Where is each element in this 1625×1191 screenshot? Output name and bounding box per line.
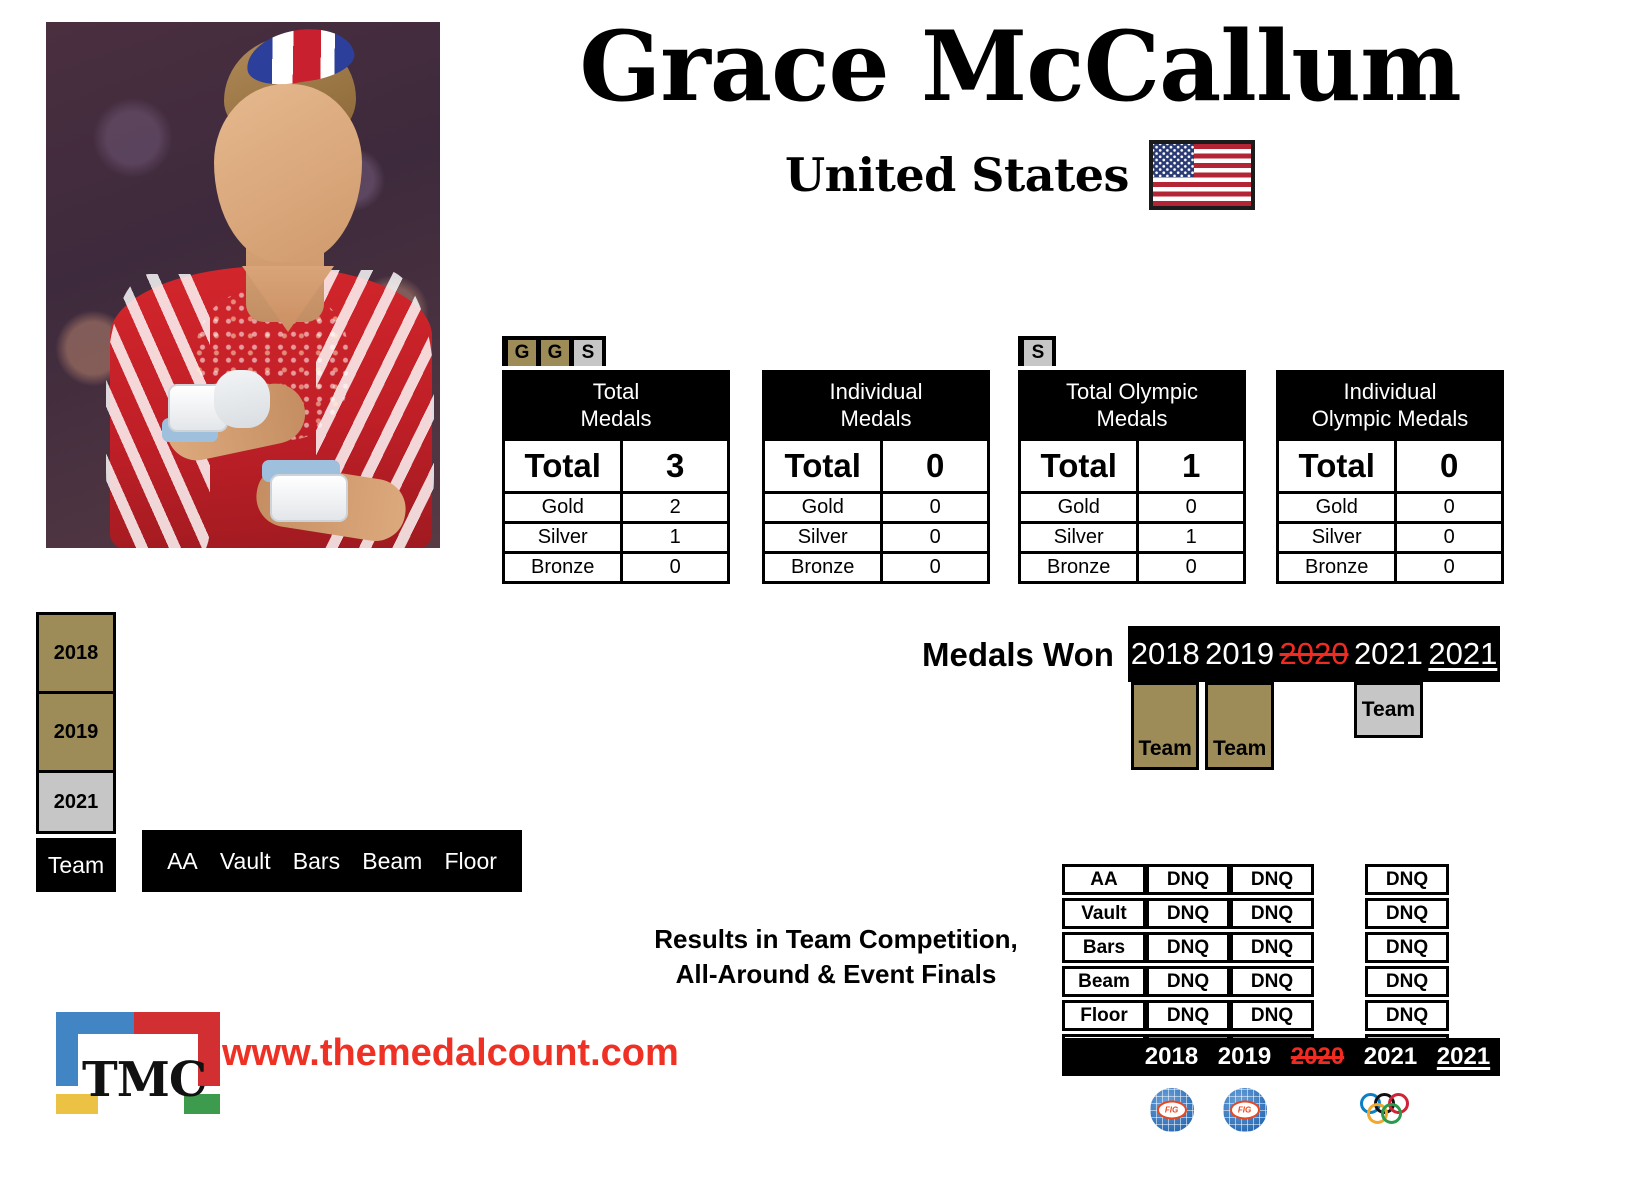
medal-chip-team-gold-2019: Team [1205,682,1273,770]
medal-chip-team-silver-2021: Team [1354,682,1422,738]
medal-row-silver: Silver 1 [1018,524,1246,554]
medal-chip-team-gold-2018: Team [1131,682,1199,770]
icon-slot-2021 [1354,1093,1427,1127]
cell-floor-2020-empty [1314,1000,1365,1031]
athlete-photo [46,22,440,548]
results-year-2021: 2021 [1354,1043,1427,1071]
results-caption-line2: All-Around & Event Finals [636,957,1036,992]
medal-card-title-line2: Medals [1018,405,1246,432]
gold-value: 0 [1397,494,1501,521]
legend-event-vault: Vault [220,848,271,875]
face [214,84,362,262]
silver-value: 0 [883,524,987,551]
total-value: 3 [623,441,727,491]
country-row: United States [460,140,1580,210]
cell-floor-2021: DNQ [1368,1003,1446,1028]
gold-value: 2 [623,494,727,521]
icon-slot-2018: FIG [1135,1088,1208,1132]
medal-row-gold: Gold 0 [762,494,990,524]
legend-event-beam: Beam [362,848,422,875]
cell-vault-2018: DNQ [1149,901,1227,926]
country-name: United States [785,148,1129,202]
cell-aa-2021b-empty [1449,864,1500,895]
medal-card-total-row: Total 3 [502,441,730,494]
cell-beam-2021: DNQ [1368,969,1446,994]
cell-vault-2021b-empty [1449,898,1500,929]
bronze-value: 0 [623,554,727,581]
cell-floor-2018: DNQ [1149,1003,1227,1028]
medal-row-bronze: Bronze 0 [1276,554,1504,584]
table-row: Bars DNQ DNQ DNQ [1062,932,1500,963]
medals-won-col-2019: Team [1202,682,1276,772]
silver-value: 1 [1139,524,1243,551]
results-year-footer: 2018 2019 2020 2021 2021 [1062,1038,1500,1076]
bronze-label: Bronze [1279,554,1394,581]
cell-aa-2021: DNQ [1368,867,1446,892]
tmc-logo: TMC [34,1008,184,1116]
medals-won-col-2021: Team [1351,682,1425,772]
medal-card-individual-olympic-medals: Individual Olympic Medals Total 0 Gold 0… [1276,336,1504,584]
total-label: Total [505,441,620,491]
medal-card-total-medals: G G S Total Medals Total 3 Gold 2 Silver… [502,336,730,584]
results-event-icons: FIG FIG [1062,1082,1500,1138]
cell-bars-2021: DNQ [1368,935,1446,960]
medal-badge-gold-1: G [508,340,536,366]
medal-row-gold: Gold 0 [1276,494,1504,524]
medal-card-total-row: Total 0 [1276,441,1504,494]
cell-aa-2020-empty [1314,864,1365,895]
olympic-rings-icon [1360,1093,1422,1127]
cell-beam-2019: DNQ [1233,969,1311,994]
medal-badges-total: G G S [502,336,606,366]
olympic-ring-green [1381,1103,1402,1124]
bronze-label: Bronze [1021,554,1136,581]
medals-won-col-2018: Team [1128,682,1202,772]
cell-floor-2019: DNQ [1233,1003,1311,1028]
medal-badge-silver-1: S [1024,340,1052,366]
gold-value: 0 [883,494,987,521]
cell-beam-2021b-empty [1449,966,1500,997]
bronze-label: Bronze [765,554,880,581]
gold-label: Gold [505,494,620,521]
cell-beam-2020-empty [1314,966,1365,997]
hand-grip-lower [270,474,348,522]
gold-label: Gold [765,494,880,521]
legend-year-swatches: 2018 2019 2021 [36,612,116,834]
medal-card-title-line1: Individual [762,378,990,405]
total-value: 0 [883,441,987,491]
medal-card-individual-medals: Individual Medals Total 0 Gold 0 Silver … [762,336,990,584]
cell-bars-2019: DNQ [1233,935,1311,960]
gold-value: 0 [1139,494,1243,521]
hand [214,370,270,428]
fig-world-championships-icon: FIG [1223,1088,1267,1132]
legend-event-bars: Bars [293,848,340,875]
site-url-link[interactable]: www.themedalcount.com [222,1032,679,1075]
medal-row-silver: Silver 0 [1276,524,1504,554]
medal-row-silver: Silver 1 [502,524,730,554]
title-block: Grace McCallum United States [460,18,1580,210]
gold-label: Gold [1279,494,1394,521]
medal-badges-olympic: S [1018,336,1056,366]
row-label-beam: Beam [1065,969,1143,994]
total-label: Total [1279,441,1394,491]
total-value: 0 [1397,441,1501,491]
silver-label: Silver [765,524,880,551]
medals-won-label: Medals Won [922,636,1114,674]
table-row: Vault DNQ DNQ DNQ [1062,898,1500,929]
silver-label: Silver [1279,524,1394,551]
medal-row-silver: Silver 0 [762,524,990,554]
medal-badge-gold-2: G [541,340,569,366]
flag-stars [1153,144,1194,177]
icon-slot-2019: FIG [1208,1088,1281,1132]
medal-card-title-line2: Medals [762,405,990,432]
results-year-2020-cancelled: 2020 [1281,1043,1354,1071]
medal-card-title: Individual Medals [762,370,990,441]
medals-won-year-2021-olympics: 2021 [1426,636,1500,672]
gold-label: Gold [1021,494,1136,521]
cell-vault-2019: DNQ [1233,901,1311,926]
cell-aa-2019: DNQ [1233,867,1311,892]
results-year-2019: 2019 [1208,1043,1281,1071]
results-year-2018: 2018 [1135,1043,1208,1071]
medal-card-total-row: Total 1 [1018,441,1246,494]
total-label: Total [765,441,880,491]
total-value: 1 [1139,441,1243,491]
logo-bracket-blue-left [56,1012,78,1086]
cell-beam-2018: DNQ [1149,969,1227,994]
fig-world-championships-icon: FIG [1150,1088,1194,1132]
cell-bars-2021b-empty [1449,932,1500,963]
legend-team-label: Team [36,838,116,892]
cell-vault-2020-empty [1314,898,1365,929]
medals-won-year-header: 2018 2019 2020 2021 2021 [1128,626,1500,682]
cell-bars-2020-empty [1314,932,1365,963]
medal-card-title-line1: Total [502,378,730,405]
medals-won-year-2018: 2018 [1128,636,1202,672]
table-row: Floor DNQ DNQ DNQ [1062,1000,1500,1031]
page-title: Grace McCallum [460,18,1580,116]
medals-won-col-2020 [1277,682,1351,772]
medal-card-title: Individual Olympic Medals [1276,370,1504,441]
results-caption: Results in Team Competition, All-Around … [636,922,1036,992]
medal-row-gold: Gold 0 [1018,494,1246,524]
legend-events-row: AA Vault Bars Beam Floor [142,830,522,892]
medal-row-bronze: Bronze 0 [1018,554,1246,584]
row-label-bars: Bars [1065,935,1143,960]
silver-value: 1 [623,524,727,551]
medal-card-title: Total Medals [502,370,730,441]
legend-event-floor: Floor [445,848,497,875]
bronze-value: 0 [1397,554,1501,581]
medals-won-chips: Team Team Team [1128,682,1500,772]
table-row: Beam DNQ DNQ DNQ [1062,966,1500,997]
silver-label: Silver [1021,524,1136,551]
cell-bars-2018: DNQ [1149,935,1227,960]
cell-aa-2018: DNQ [1149,867,1227,892]
medal-row-bronze: Bronze 0 [502,554,730,584]
results-year-2021-olympics: 2021 [1427,1043,1500,1071]
usa-flag-icon [1149,140,1255,210]
medal-card-title-line2: Medals [502,405,730,432]
medal-card-title-line2: Olympic Medals [1276,405,1504,432]
cell-floor-2021b-empty [1449,1000,1500,1031]
logo-text: TMC [82,1056,206,1104]
row-label-vault: Vault [1065,901,1143,926]
row-label-aa: AA [1065,867,1143,892]
legend-event-aa: AA [167,848,198,875]
results-caption-line1: Results in Team Competition, [636,922,1036,957]
medal-card-title: Total Olympic Medals [1018,370,1246,441]
bronze-value: 0 [883,554,987,581]
legend-year-2018: 2018 [39,615,113,691]
medals-won-year-2020-cancelled: 2020 [1277,636,1351,672]
medals-won-year-2019: 2019 [1202,636,1276,672]
fig-logo-text: FIG [1230,1101,1260,1120]
row-label-floor: Floor [1065,1003,1143,1028]
legend-year-2021: 2021 [39,773,113,831]
medal-badge-silver-1: S [574,340,602,366]
medal-card-title-line1: Total Olympic [1018,378,1246,405]
silver-label: Silver [505,524,620,551]
silver-value: 0 [1397,524,1501,551]
legend-year-2019: 2019 [39,694,113,770]
total-label: Total [1021,441,1136,491]
medals-won-col-2021-olympics [1426,682,1500,772]
fig-logo-text: FIG [1157,1101,1187,1120]
cell-vault-2021: DNQ [1368,901,1446,926]
medal-row-bronze: Bronze 0 [762,554,990,584]
medals-won-year-2021: 2021 [1351,636,1425,672]
medal-card-total-olympic-medals: S Total Olympic Medals Total 1 Gold 0 Si… [1018,336,1246,584]
medal-card-total-row: Total 0 [762,441,990,494]
bronze-label: Bronze [505,554,620,581]
medal-card-title-line1: Individual [1276,378,1504,405]
bronze-value: 0 [1139,554,1243,581]
table-row: AA DNQ DNQ DNQ [1062,864,1500,895]
medal-row-gold: Gold 2 [502,494,730,524]
